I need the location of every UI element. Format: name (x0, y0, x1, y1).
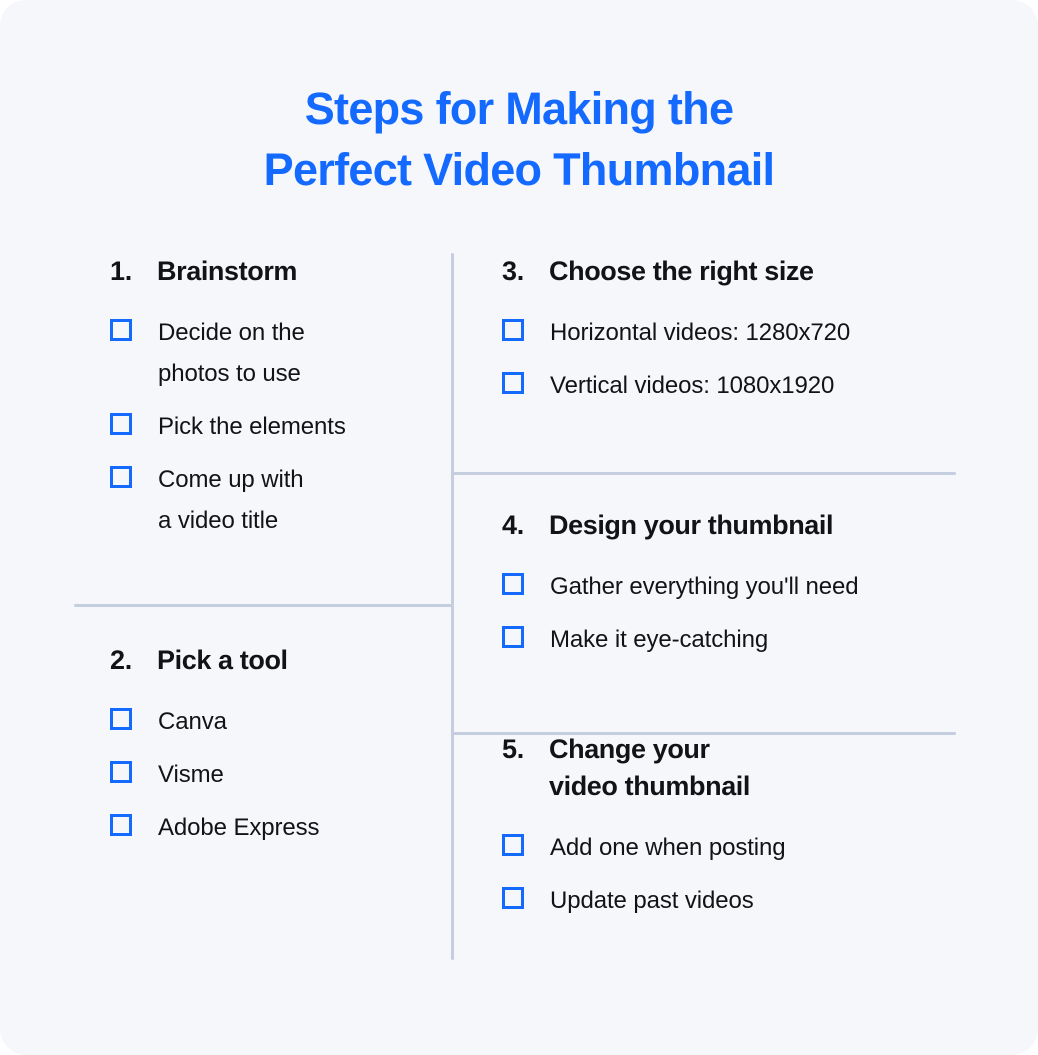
item-line: Add one when posting (550, 827, 786, 868)
empty-checkbox-icon[interactable] (502, 887, 524, 909)
heading-line: Change your (549, 731, 750, 768)
section-number: 3. (502, 253, 549, 290)
section-header: 4. Design your thumbnail (502, 507, 859, 544)
list-item[interactable]: Gather everything you'll need (502, 566, 859, 607)
infographic-card: Steps for Making the Perfect Video Thumb… (0, 0, 1038, 1055)
list-item[interactable]: Canva (110, 701, 319, 742)
section-heading: Pick a tool (157, 642, 288, 679)
list-item[interactable]: Visme (110, 754, 319, 795)
checklist: Canva Visme Adobe Express (110, 701, 319, 848)
title-line-2: Perfect Video Thumbnail (0, 139, 1038, 200)
list-item-label: Gather everything you'll need (550, 566, 859, 607)
list-item[interactable]: Update past videos (502, 880, 786, 921)
item-line: Adobe Express (158, 807, 319, 848)
checklist: Add one when posting Update past videos (502, 827, 786, 921)
title-line-1: Steps for Making the (0, 78, 1038, 139)
list-item[interactable]: Make it eye-catching (502, 619, 859, 660)
section-brainstorm: 1. Brainstorm Decide on the photos to us… (110, 253, 346, 541)
list-item[interactable]: Vertical videos: 1080x1920 (502, 365, 850, 406)
section-divider-left (74, 604, 452, 607)
page-title: Steps for Making the Perfect Video Thumb… (0, 78, 1038, 200)
list-item-label: Canva (158, 701, 227, 742)
section-number: 4. (502, 507, 549, 544)
list-item-label: Vertical videos: 1080x1920 (550, 365, 834, 406)
item-line: Decide on the (158, 312, 305, 353)
heading-line: Pick a tool (157, 642, 288, 679)
section-header: 3. Choose the right size (502, 253, 850, 290)
section-divider-right-1 (452, 472, 956, 475)
item-line: a video title (158, 500, 304, 541)
item-line: Horizontal videos: 1280x720 (550, 312, 850, 353)
section-heading: Brainstorm (157, 253, 297, 290)
empty-checkbox-icon[interactable] (502, 834, 524, 856)
heading-line: Choose the right size (549, 253, 814, 290)
section-number: 2. (110, 642, 157, 679)
section-heading: Change your video thumbnail (549, 731, 750, 805)
list-item-label: Adobe Express (158, 807, 319, 848)
item-line: Update past videos (550, 880, 754, 921)
list-item-label: Add one when posting (550, 827, 786, 868)
empty-checkbox-icon[interactable] (502, 626, 524, 648)
heading-line: Brainstorm (157, 253, 297, 290)
list-item[interactable]: Come up with a video title (110, 459, 346, 541)
list-item[interactable]: Adobe Express (110, 807, 319, 848)
item-line: Visme (158, 754, 224, 795)
list-item-label: Horizontal videos: 1280x720 (550, 312, 850, 353)
empty-checkbox-icon[interactable] (110, 413, 132, 435)
heading-line: video thumbnail (549, 768, 750, 805)
item-line: Gather everything you'll need (550, 566, 859, 607)
empty-checkbox-icon[interactable] (110, 761, 132, 783)
checklist: Decide on the photos to use Pick the ele… (110, 312, 346, 541)
list-item-label: Visme (158, 754, 224, 795)
item-line: Canva (158, 701, 227, 742)
list-item-label: Come up with a video title (158, 459, 304, 541)
item-line: Vertical videos: 1080x1920 (550, 365, 834, 406)
section-pick-a-tool: 2. Pick a tool Canva Visme (110, 642, 319, 848)
empty-checkbox-icon[interactable] (110, 708, 132, 730)
item-line: Come up with (158, 459, 304, 500)
empty-checkbox-icon[interactable] (110, 319, 132, 341)
section-header: 1. Brainstorm (110, 253, 346, 290)
list-item[interactable]: Add one when posting (502, 827, 786, 868)
section-header: 5. Change your video thumbnail (502, 731, 786, 805)
list-item-label: Pick the elements (158, 406, 346, 447)
list-item[interactable]: Decide on the photos to use (110, 312, 346, 394)
section-choose-the-right-size: 3. Choose the right size Horizontal vide… (502, 253, 850, 406)
heading-line: Design your thumbnail (549, 507, 833, 544)
checklist: Gather everything you'll need Make it ey… (502, 566, 859, 660)
item-line: Pick the elements (158, 406, 346, 447)
section-design-your-thumbnail: 4. Design your thumbnail Gather everythi… (502, 507, 859, 660)
list-item-label: Update past videos (550, 880, 754, 921)
list-item[interactable]: Horizontal videos: 1280x720 (502, 312, 850, 353)
empty-checkbox-icon[interactable] (110, 814, 132, 836)
list-item[interactable]: Pick the elements (110, 406, 346, 447)
item-line: photos to use (158, 353, 305, 394)
list-item-label: Make it eye-catching (550, 619, 768, 660)
empty-checkbox-icon[interactable] (502, 319, 524, 341)
section-number: 5. (502, 731, 549, 768)
section-heading: Design your thumbnail (549, 507, 833, 544)
item-line: Make it eye-catching (550, 619, 768, 660)
empty-checkbox-icon[interactable] (502, 573, 524, 595)
section-heading: Choose the right size (549, 253, 814, 290)
empty-checkbox-icon[interactable] (502, 372, 524, 394)
list-item-label: Decide on the photos to use (158, 312, 305, 394)
empty-checkbox-icon[interactable] (110, 466, 132, 488)
section-number: 1. (110, 253, 157, 290)
section-change-your-video-thumbnail: 5. Change your video thumbnail Add one w… (502, 731, 786, 921)
checklist: Horizontal videos: 1280x720 Vertical vid… (502, 312, 850, 406)
section-header: 2. Pick a tool (110, 642, 319, 679)
